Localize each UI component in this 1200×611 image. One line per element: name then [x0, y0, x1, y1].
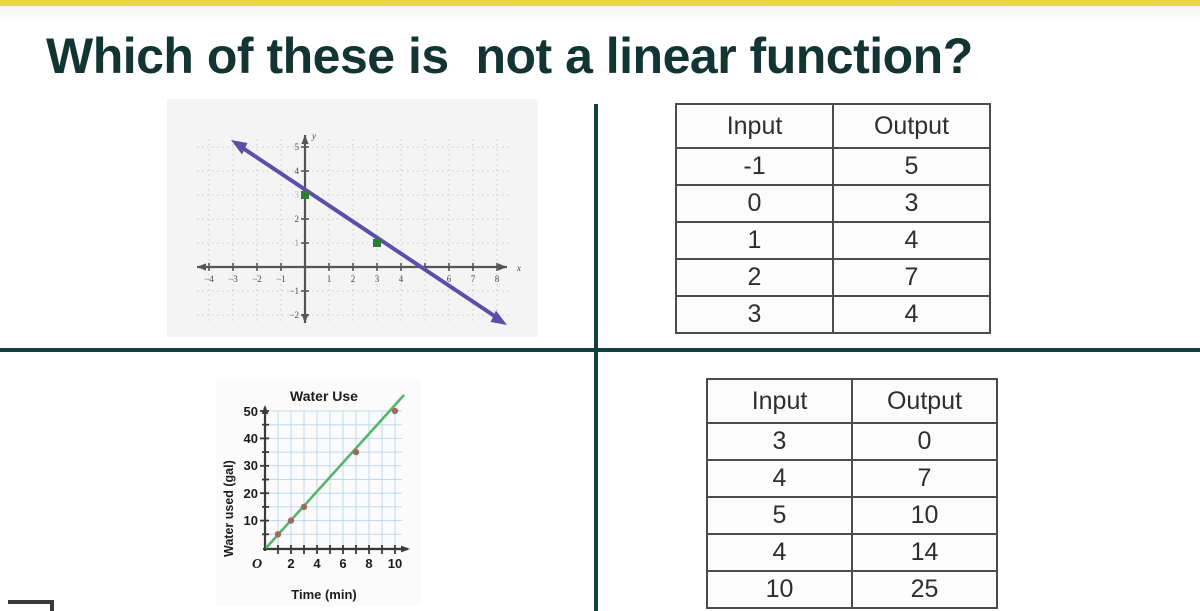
- option-coordinate-line-graph[interactable]: −4 −3 −2 −1 1 2 3 4 6 7 8 5 4 3 2 1 −1 −…: [167, 99, 538, 337]
- option-water-use-graph[interactable]: Water Use Water used (gal) Time (min): [216, 379, 421, 606]
- svg-text:2: 2: [287, 556, 294, 571]
- cell-output: 4: [833, 222, 990, 259]
- water-origin-label: O: [252, 557, 262, 572]
- cell-input: 2: [676, 259, 833, 296]
- svg-text:7: 7: [471, 274, 476, 284]
- svg-text:10: 10: [244, 513, 258, 528]
- svg-text:8: 8: [365, 556, 372, 571]
- svg-text:3: 3: [375, 274, 380, 284]
- column-header-input: Input: [707, 379, 852, 423]
- svg-text:4: 4: [399, 274, 404, 284]
- svg-text:2: 2: [295, 214, 300, 224]
- svg-text:50: 50: [244, 404, 258, 419]
- cell-output: 7: [852, 460, 997, 497]
- water-use-graph-svg: Water Use Water used (gal) Time (min): [216, 379, 421, 606]
- cell-output: 25: [852, 571, 997, 608]
- table-header-row: Input Output: [707, 379, 997, 423]
- table-header-row: Input Output: [676, 104, 990, 148]
- cell-input: 0: [676, 185, 833, 222]
- divider-vertical: [594, 104, 598, 611]
- top-bar-shade: [0, 6, 1200, 20]
- table-row: 0 3: [676, 185, 990, 222]
- column-header-output: Output: [852, 379, 997, 423]
- table-row: 2 7: [676, 259, 990, 296]
- graph-background: [167, 99, 538, 337]
- cell-output: 7: [833, 259, 990, 296]
- svg-text:30: 30: [244, 458, 258, 473]
- cell-output: 0: [852, 423, 997, 460]
- option-input-output-table-2[interactable]: Input Output 3 0 4 7 5 10 4 14 10: [706, 378, 996, 596]
- cell-input: 4: [707, 534, 852, 571]
- cell-output: 5: [833, 148, 990, 185]
- table-row: 3 0: [707, 423, 997, 460]
- svg-text:1: 1: [327, 274, 332, 284]
- svg-text:40: 40: [244, 431, 258, 446]
- cell-input: 1: [676, 222, 833, 259]
- input-output-table-2: Input Output 3 0 4 7 5 10 4 14 10: [706, 378, 998, 609]
- divider-horizontal: [0, 348, 1200, 352]
- option-input-output-table-1[interactable]: Input Output -1 5 0 3 1 4 2 7 3: [675, 103, 990, 323]
- svg-text:−1: −1: [276, 274, 286, 284]
- coordinate-line-graph-svg: −4 −3 −2 −1 1 2 3 4 6 7 8 5 4 3 2 1 −1 −…: [167, 99, 538, 337]
- svg-text:4: 4: [295, 166, 300, 176]
- svg-text:20: 20: [244, 486, 258, 501]
- svg-text:8: 8: [495, 274, 500, 284]
- cell-output: 14: [852, 534, 997, 571]
- water-x-axis-label: Time (min): [291, 587, 357, 602]
- cell-output: 10: [852, 497, 997, 534]
- page-title: Which of these is not a linear function?: [46, 20, 1166, 92]
- table-row: 5 10: [707, 497, 997, 534]
- svg-text:−3: −3: [228, 274, 238, 284]
- water-point-1-5: [275, 531, 281, 537]
- water-point-3-15: [301, 504, 307, 510]
- column-header-output: Output: [833, 104, 990, 148]
- svg-text:−1: −1: [289, 286, 299, 296]
- svg-text:−2: −2: [252, 274, 262, 284]
- input-output-table-1: Input Output -1 5 0 3 1 4 2 7 3: [675, 103, 991, 334]
- svg-text:5: 5: [295, 142, 300, 152]
- table-row: 3 4: [676, 296, 990, 333]
- x-axis-label: x: [516, 263, 521, 273]
- svg-text:1: 1: [295, 238, 300, 248]
- table-row: -1 5: [676, 148, 990, 185]
- svg-text:10: 10: [388, 556, 402, 571]
- y-axis-label: y: [311, 131, 316, 141]
- table-row: 4 7: [707, 460, 997, 497]
- water-point-10-50: [392, 408, 398, 414]
- table-row: 4 14: [707, 534, 997, 571]
- cell-output: 3: [833, 185, 990, 222]
- cell-input: 4: [707, 460, 852, 497]
- data-point-3-1: [373, 239, 381, 247]
- svg-text:4: 4: [313, 556, 321, 571]
- table-row: 1 4: [676, 222, 990, 259]
- svg-text:6: 6: [339, 556, 346, 571]
- data-point-0-3: [301, 191, 309, 199]
- svg-text:3: 3: [295, 190, 300, 200]
- svg-text:−4: −4: [204, 274, 214, 284]
- cell-input: -1: [676, 148, 833, 185]
- cell-input: 3: [707, 423, 852, 460]
- water-y-axis-label: Water used (gal): [222, 460, 236, 557]
- cell-input: 3: [676, 296, 833, 333]
- cropped-table-corner-artifact: [8, 600, 54, 611]
- svg-text:−2: −2: [289, 310, 299, 320]
- svg-text:2: 2: [351, 274, 356, 284]
- table-row: 10 25: [707, 571, 997, 608]
- water-point-2-10: [288, 517, 294, 523]
- water-chart-title: Water Use: [290, 388, 358, 404]
- column-header-input: Input: [676, 104, 833, 148]
- cell-input: 5: [707, 497, 852, 534]
- cell-output: 4: [833, 296, 990, 333]
- cell-input: 10: [707, 571, 852, 608]
- water-point-7-35: [353, 449, 359, 455]
